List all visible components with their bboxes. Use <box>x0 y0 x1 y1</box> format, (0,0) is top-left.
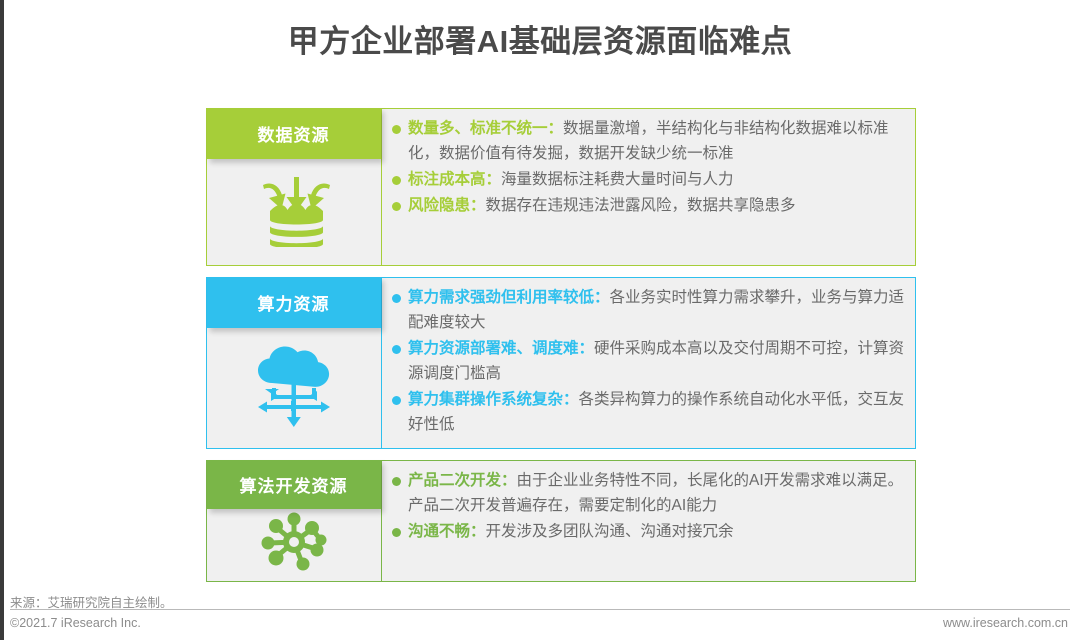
bullet-item: 沟通不畅：开发涉及多团队沟通、沟通对接冗余 <box>390 519 905 544</box>
section-label-tab[interactable]: 算力资源 <box>207 277 381 328</box>
section-card-compute-resource: 算力资源 <box>206 277 916 449</box>
section-left-column: 数据资源 <box>207 109 381 265</box>
website-link[interactable]: www.iresearch.com.cn <box>943 616 1068 630</box>
bullet-item: 标注成本高：海量数据标注耗费大量时间与人力 <box>390 167 905 192</box>
bullet-heading: 标注成本高： <box>408 171 501 188</box>
footer-divider <box>10 609 1070 610</box>
bullet-item: 数量多、标准不统一：数据量激增，半结构化与非结构化数据难以标准化，数据价值有待发… <box>390 116 905 166</box>
bullet-text: 标注成本高：海量数据标注耗费大量时间与人力 <box>408 167 734 192</box>
bullet-dot-icon <box>392 294 401 303</box>
bullet-item: 算力资源部署难、调度难：硬件采购成本高以及交付周期不可控，计算资源调度门槛高 <box>390 336 905 386</box>
bullet-item: 算力集群操作系统复杂：各类异构算力的操作系统自动化水平低，交互友好性低 <box>390 387 905 437</box>
cloud-distribution-icon <box>248 328 340 448</box>
bullet-body: 海量数据标注耗费大量时间与人力 <box>501 171 734 188</box>
page-title: 甲方企业部署AI基础层资源面临难点 <box>0 16 1080 61</box>
bullet-item: 产品二次开发：由于企业业务特性不同，长尾化的AI开发需求难以满足。产品二次开发普… <box>390 468 905 518</box>
section-label-text: 算法开发资源 <box>240 472 348 497</box>
bullet-dot-icon <box>392 345 401 354</box>
left-edge-strip <box>0 0 4 640</box>
section-label-text: 算力资源 <box>258 290 330 315</box>
section-bullets: 产品二次开发：由于企业业务特性不同，长尾化的AI开发需求难以满足。产品二次开发普… <box>382 461 915 581</box>
bullet-dot-icon <box>392 176 401 185</box>
bullet-body: 开发涉及多团队沟通、沟通对接冗余 <box>486 523 734 540</box>
bullet-heading: 算力集群操作系统复杂： <box>408 391 579 408</box>
section-left-column: 算力资源 <box>207 278 381 448</box>
bullet-heading: 算力资源部署难、调度难： <box>408 340 594 357</box>
bullet-dot-icon <box>392 528 401 537</box>
bullet-text: 风险隐患：数据存在违规违法泄露风险，数据共享隐患多 <box>408 193 796 218</box>
section-card-data-resource: 数据资源 <box>206 108 916 266</box>
bullet-heading: 数量多、标准不统一： <box>408 120 563 137</box>
bullet-dot-icon <box>392 125 401 134</box>
bullet-dot-icon <box>392 396 401 405</box>
section-label-tab[interactable]: 数据资源 <box>207 108 381 159</box>
bullet-heading: 风险隐患： <box>408 197 486 214</box>
bullet-heading: 沟通不畅： <box>408 523 486 540</box>
bullet-text: 产品二次开发：由于企业业务特性不同，长尾化的AI开发需求难以满足。产品二次开发普… <box>408 468 905 518</box>
sections-container: 数据资源 <box>206 108 916 593</box>
bullet-text: 算力需求强劲但利用率较低：各业务实时性算力需求攀升，业务与算力适配难度较大 <box>408 285 905 335</box>
database-inflow-icon <box>251 159 337 265</box>
bullet-body: 数据存在违规违法泄露风险，数据共享隐患多 <box>486 197 796 214</box>
section-bullets: 算力需求强劲但利用率较低：各业务实时性算力需求攀升，业务与算力适配难度较大 算力… <box>382 278 915 448</box>
bullet-text: 数量多、标准不统一：数据量激增，半结构化与非结构化数据难以标准化，数据价值有待发… <box>408 116 905 166</box>
section-bullets: 数量多、标准不统一：数据量激增，半结构化与非结构化数据难以标准化，数据价值有待发… <box>382 109 915 265</box>
bullet-item: 算力需求强劲但利用率较低：各业务实时性算力需求攀升，业务与算力适配难度较大 <box>390 285 905 335</box>
bullet-item: 风险隐患：数据存在违规违法泄露风险，数据共享隐患多 <box>390 193 905 218</box>
bullet-dot-icon <box>392 202 401 211</box>
section-label-tab[interactable]: 算法开发资源 <box>207 460 381 509</box>
bullet-text: 沟通不畅：开发涉及多团队沟通、沟通对接冗余 <box>408 519 734 544</box>
bullet-text: 算力集群操作系统复杂：各类异构算力的操作系统自动化水平低，交互友好性低 <box>408 387 905 437</box>
copyright-note: ©2021.7 iResearch Inc. <box>10 616 141 630</box>
bullet-heading: 算力需求强劲但利用率较低： <box>408 289 610 306</box>
bullet-dot-icon <box>392 477 401 486</box>
bullet-heading: 产品二次开发： <box>408 472 517 489</box>
section-label-text: 数据资源 <box>258 121 330 146</box>
section-left-column: 算法开发资源 <box>207 461 381 581</box>
bullet-text: 算力资源部署难、调度难：硬件采购成本高以及交付周期不可控，计算资源调度门槛高 <box>408 336 905 386</box>
slide-root: 甲方企业部署AI基础层资源面临难点 数据资源 <box>0 0 1080 640</box>
node-network-icon <box>254 509 334 581</box>
section-card-algorithm-resource: 算法开发资源 <box>206 460 916 582</box>
